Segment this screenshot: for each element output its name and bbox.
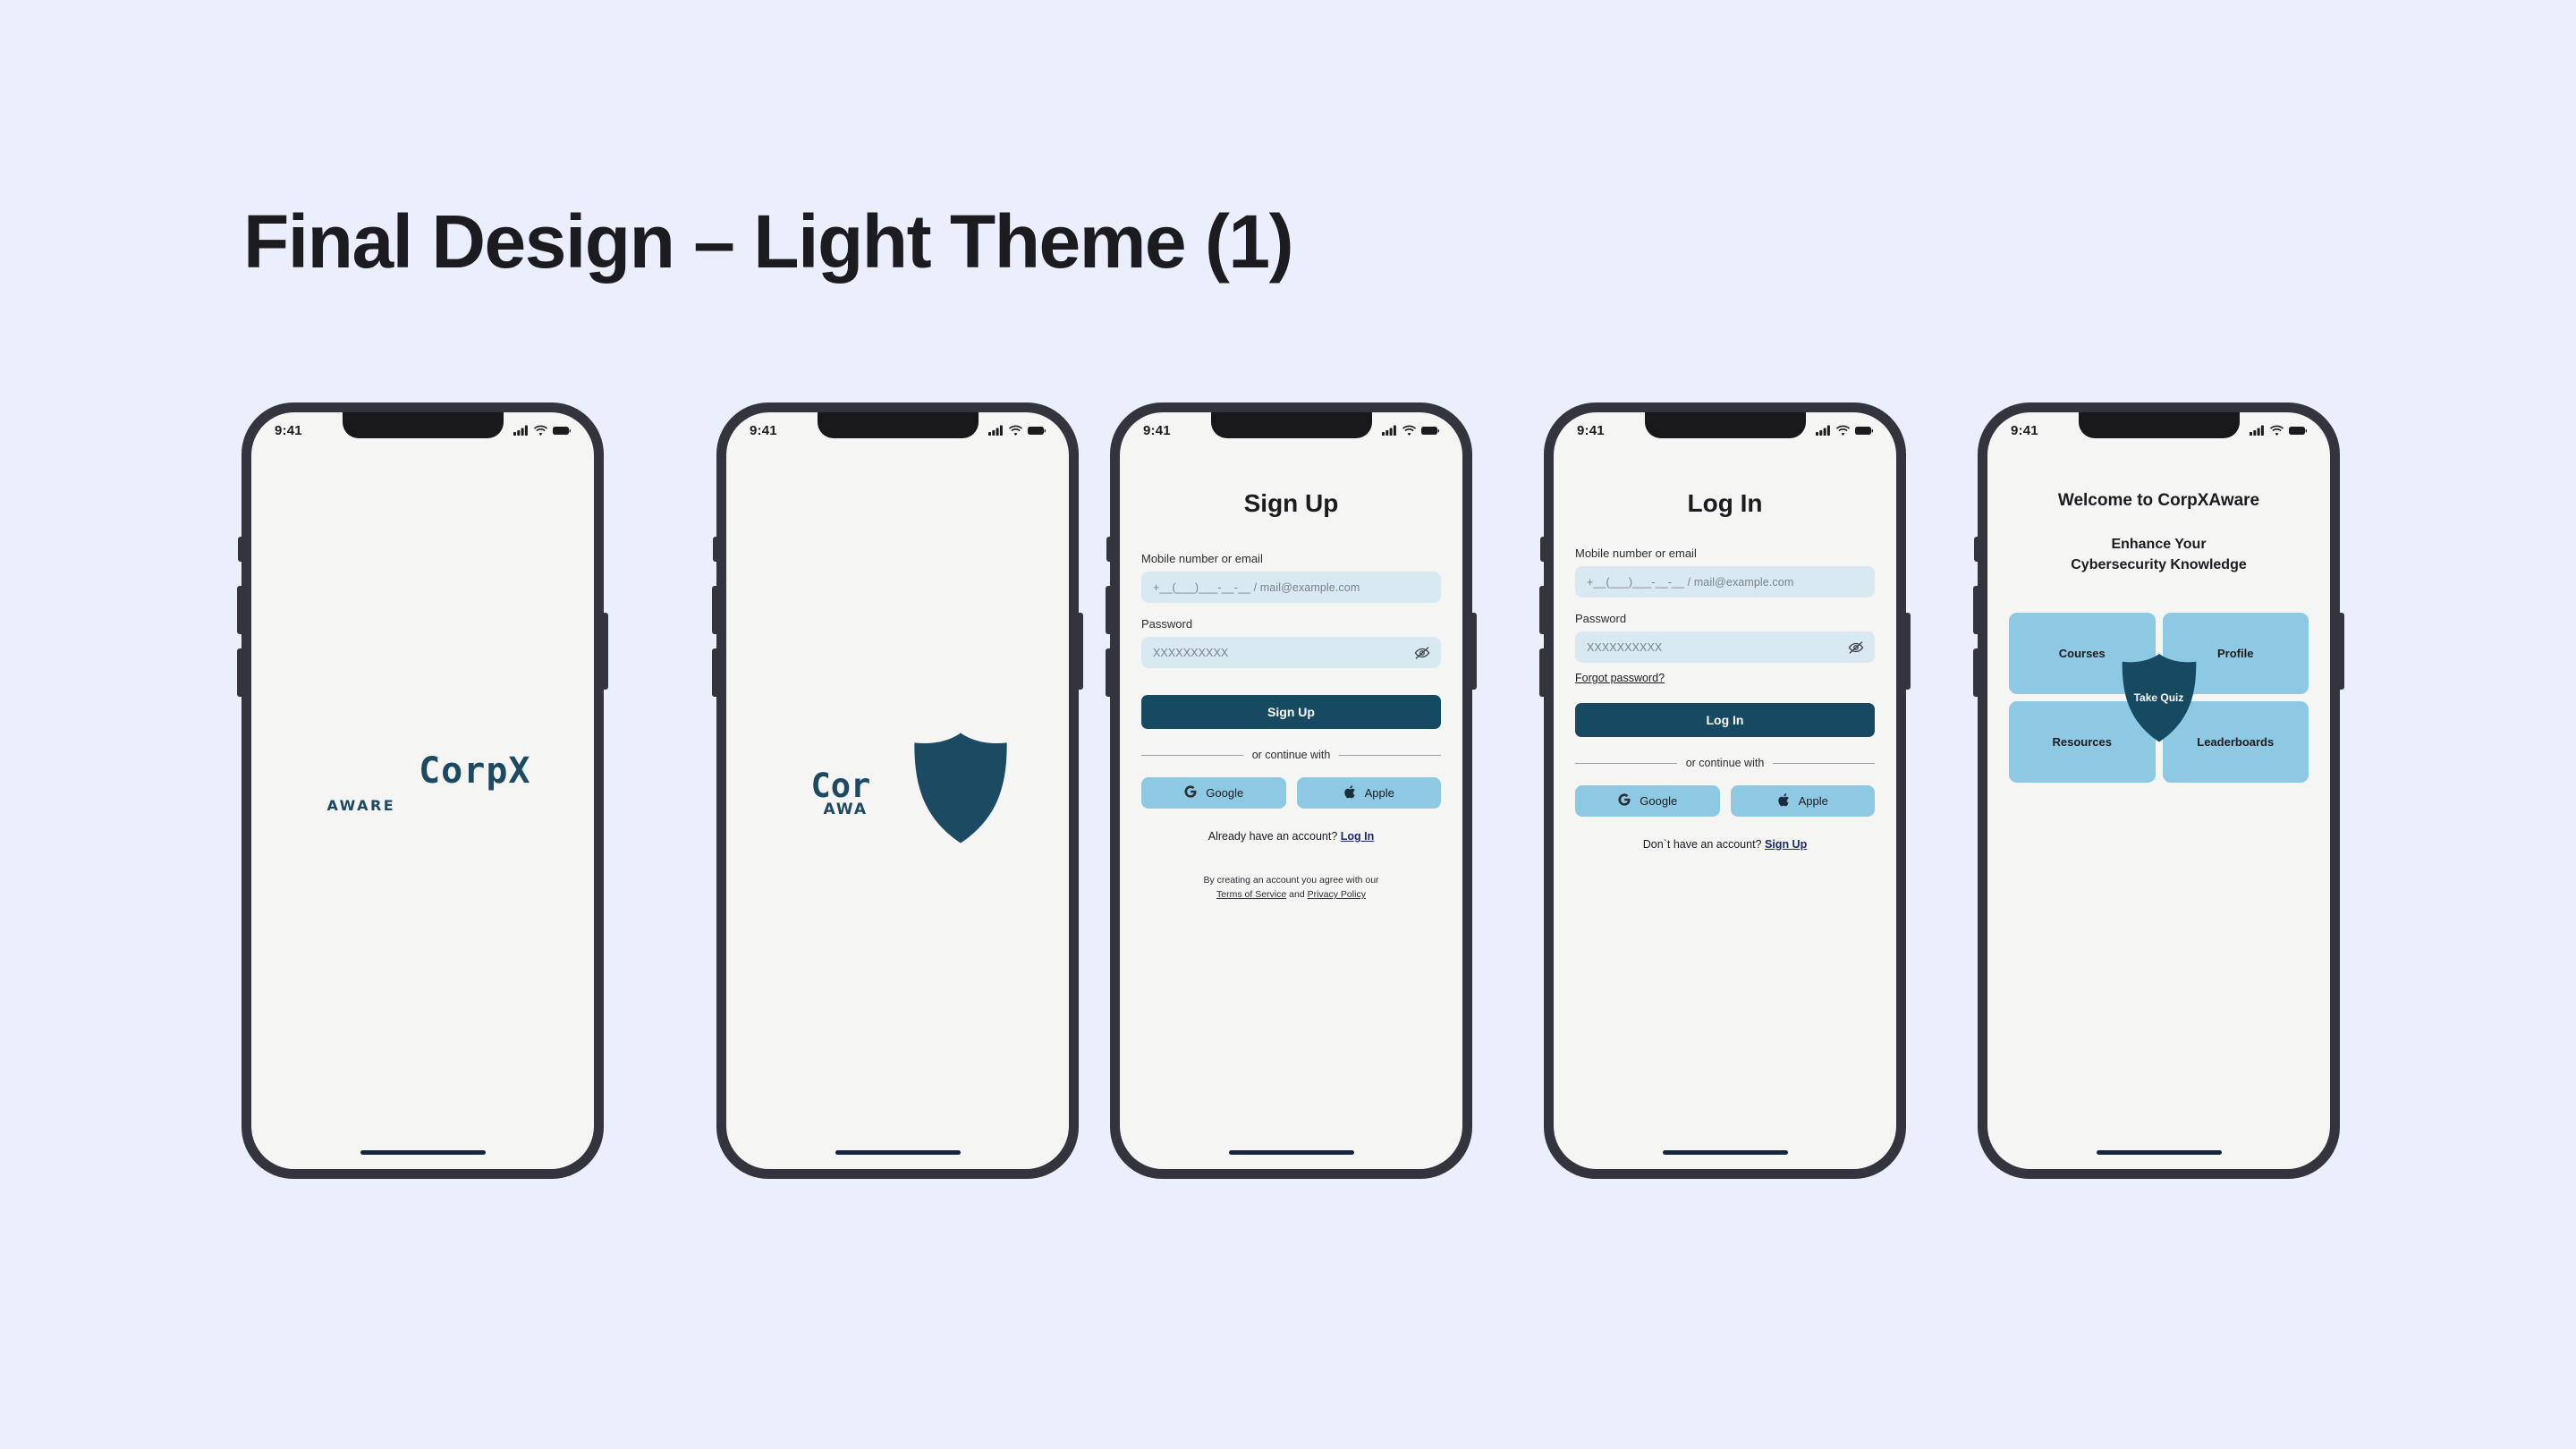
volume-up-button[interactable] [1539, 586, 1545, 634]
terms-of-service-link[interactable]: Terms of Service [1216, 889, 1286, 900]
switch-prompt: Already have an account? [1208, 830, 1338, 843]
identifier-value: +__(___)___-__-__ / mail@example.com [1587, 576, 1793, 589]
phone-home: 9:41 Welcome to CorpXAware [1978, 402, 2340, 1179]
phone-mockup-row: 9:41 CorpX [0, 402, 2576, 1190]
screen-splash-shield: 9:41 [726, 412, 1069, 1169]
google-label: Google [1206, 786, 1243, 800]
wifi-icon [1402, 425, 1416, 436]
divider-text: or continue with [1252, 749, 1331, 761]
divider-line-left [1575, 763, 1677, 764]
mute-switch[interactable] [238, 537, 242, 562]
power-button[interactable] [1078, 613, 1083, 690]
mute-switch[interactable] [713, 537, 717, 562]
apple-icon [1343, 784, 1357, 802]
sign-up-button-wrap: Sign Up [1141, 695, 1441, 729]
battery-icon [553, 426, 571, 436]
forgot-password-link[interactable]: Forgot password? [1575, 672, 1665, 684]
apple-icon [1777, 792, 1791, 810]
tile-profile-label: Profile [2217, 647, 2253, 660]
home-indicator[interactable] [1663, 1150, 1788, 1155]
social-divider: or continue with [1575, 757, 1875, 769]
shield-icon [911, 733, 1010, 843]
password-label: Password [1575, 612, 1875, 625]
field-group-password: Password XXXXXXXXXX [1575, 612, 1875, 663]
screen-log-in: 9:41 Log In [1554, 412, 1896, 1169]
splash-logo-container: CorpX AWARE [251, 412, 594, 1169]
social-buttons-row: Google Apple [1575, 785, 1875, 817]
field-group-identifier: Mobile number or email +__(___)___-__-__… [1575, 547, 1875, 597]
sign-up-link[interactable]: Sign Up [1765, 838, 1807, 851]
legal-links-row: Terms of Service and Privacy Policy [1141, 887, 1441, 902]
google-label: Google [1640, 794, 1677, 808]
log-in-link[interactable]: Log In [1341, 830, 1375, 843]
identifier-value: +__(___)___-__-__ / mail@example.com [1153, 581, 1360, 594]
privacy-policy-link[interactable]: Privacy Policy [1308, 889, 1366, 900]
volume-down-button[interactable] [712, 648, 717, 697]
battery-icon [2289, 426, 2307, 436]
subtitle-line-2: Cybersecurity Knowledge [2009, 555, 2309, 575]
home-indicator[interactable] [835, 1150, 961, 1155]
battery-icon [1855, 426, 1873, 436]
password-input[interactable]: XXXXXXXXXX [1575, 631, 1875, 663]
status-icons [1382, 425, 1439, 436]
mute-switch[interactable] [1974, 537, 1979, 562]
google-log-in-button[interactable]: Google [1575, 785, 1720, 817]
legal-prefix: By creating an account you agree with ou… [1141, 873, 1441, 887]
legal-and: and [1289, 889, 1305, 900]
divider-line-right [1339, 755, 1441, 756]
status-icons [2250, 425, 2307, 436]
status-time: 9:41 [1143, 423, 1171, 438]
google-icon [1183, 784, 1198, 801]
phone-splash-logo: 9:41 CorpX [241, 402, 604, 1179]
volume-down-button[interactable] [1973, 648, 1979, 697]
google-sign-up-button[interactable]: Google [1141, 777, 1286, 809]
status-bar: 9:41 [726, 412, 1069, 448]
home-indicator[interactable] [1229, 1150, 1354, 1155]
status-bar: 9:41 [1120, 412, 1462, 448]
home-indicator[interactable] [2097, 1150, 2222, 1155]
page-heading: Log In [1575, 489, 1875, 518]
volume-down-button[interactable] [1539, 648, 1545, 697]
log-in-button-wrap: Log In [1575, 703, 1875, 737]
mute-switch[interactable] [1106, 537, 1111, 562]
log-in-button[interactable]: Log In [1575, 703, 1875, 737]
volume-up-button[interactable] [712, 586, 717, 634]
corpx-aware-logo: CorpX AWARE [302, 741, 544, 840]
divider-line-right [1773, 763, 1875, 764]
take-quiz-button[interactable]: Take Quiz [2120, 654, 2199, 741]
password-label: Password [1141, 617, 1441, 631]
legal-disclaimer: By creating an account you agree with ou… [1141, 873, 1441, 902]
wifi-icon [2270, 425, 2284, 436]
mute-switch[interactable] [1540, 537, 1545, 562]
status-time: 9:41 [1577, 423, 1605, 438]
apple-label: Apple [1365, 786, 1394, 800]
take-quiz-label: Take Quiz [2134, 691, 2184, 704]
switch-to-signup-line: Don`t have an account? Sign Up [1575, 838, 1875, 851]
divider-text: or continue with [1686, 757, 1765, 769]
power-button[interactable] [1471, 613, 1477, 690]
social-buttons-row: Google Apple [1141, 777, 1441, 809]
status-bar: 9:41 [1554, 412, 1896, 448]
volume-up-button[interactable] [1106, 586, 1111, 634]
screen-sign-up: 9:41 Sign Up [1120, 412, 1462, 1169]
power-button[interactable] [2339, 613, 2344, 690]
page-heading: Sign Up [1141, 489, 1441, 518]
welcome-subtitle: Enhance Your Cybersecurity Knowledge [2009, 534, 2309, 575]
logo-corpx-text: CorpX [419, 750, 530, 792]
logo-corpx-text: CorpX [811, 767, 911, 805]
page-title: Final Design – Light Theme (1) [243, 199, 1292, 285]
status-time: 9:41 [750, 423, 777, 438]
social-divider: or continue with [1141, 749, 1441, 761]
logo-aware-text: AWARE [327, 797, 396, 814]
tile-leaderboards-label: Leaderboards [2197, 735, 2274, 749]
cellular-signal-icon [1382, 425, 1397, 436]
home-indicator[interactable] [360, 1150, 486, 1155]
battery-icon [1421, 426, 1439, 436]
status-time: 9:41 [2011, 423, 2038, 438]
status-bar: 9:41 [1987, 412, 2330, 448]
cellular-signal-icon [2250, 425, 2265, 436]
phone-sign-up: 9:41 Sign Up [1110, 402, 1472, 1179]
screen-splash-logo: 9:41 CorpX [251, 412, 594, 1169]
welcome-heading: Welcome to CorpXAware [2009, 491, 2309, 511]
cellular-signal-icon [1816, 425, 1831, 436]
cellular-signal-icon [988, 425, 1004, 436]
log-in-form: Log In Mobile number or email +__(___)__… [1554, 448, 1896, 1169]
cellular-signal-icon [513, 425, 529, 436]
apple-label: Apple [1799, 794, 1828, 808]
field-group-identifier: Mobile number or email +__(___)___-__-__… [1141, 552, 1441, 603]
apple-log-in-button[interactable]: Apple [1731, 785, 1876, 817]
design-board: Final Design – Light Theme (1) 9:41 [0, 0, 2576, 1449]
status-bar: 9:41 [251, 412, 594, 448]
home-tile-grid: Courses Profile Resources Leaderboards [2009, 613, 2309, 783]
identifier-input[interactable]: +__(___)___-__-__ / mail@example.com [1575, 566, 1875, 597]
password-input[interactable]: XXXXXXXXXX [1141, 637, 1441, 668]
home-content: Welcome to CorpXAware Enhance Your Cyber… [1987, 448, 2330, 1169]
subtitle-line-1: Enhance Your [2009, 534, 2309, 555]
volume-up-button[interactable] [1973, 586, 1979, 634]
power-button[interactable] [1905, 613, 1911, 690]
wifi-icon [1836, 425, 1850, 436]
switch-to-login-line: Already have an account? Log In [1141, 830, 1441, 843]
volume-down-button[interactable] [237, 648, 242, 697]
corpx-aware-shield-logo: CorpX AWARE [786, 733, 1010, 849]
splash-shield-container: CorpX AWARE [726, 412, 1069, 1169]
tile-courses-label: Courses [2059, 647, 2106, 660]
divider-line-left [1141, 755, 1243, 756]
wifi-icon [534, 425, 547, 436]
logo-aware-text: AWARE [824, 801, 894, 818]
wifi-icon [1009, 425, 1022, 436]
screen-home: 9:41 Welcome to CorpXAware [1987, 412, 2330, 1169]
google-icon [1617, 792, 1631, 809]
tile-resources-label: Resources [2053, 735, 2112, 749]
sign-up-button[interactable]: Sign Up [1141, 695, 1441, 729]
status-icons [988, 425, 1046, 436]
identifier-label: Mobile number or email [1141, 552, 1441, 565]
status-icons [1816, 425, 1873, 436]
status-icons [513, 425, 571, 436]
volume-down-button[interactable] [1106, 648, 1111, 697]
status-time: 9:41 [275, 423, 302, 438]
eye-off-icon[interactable] [1848, 640, 1864, 656]
field-group-password: Password XXXXXXXXXX [1141, 617, 1441, 668]
battery-icon [1028, 426, 1046, 436]
identifier-input[interactable]: +__(___)___-__-__ / mail@example.com [1141, 572, 1441, 603]
password-value: XXXXXXXXXX [1153, 647, 1228, 659]
identifier-label: Mobile number or email [1575, 547, 1875, 560]
switch-prompt: Don`t have an account? [1643, 838, 1762, 851]
power-button[interactable] [603, 613, 608, 690]
sign-up-form: Sign Up Mobile number or email +__(___)_… [1120, 448, 1462, 1169]
eye-off-icon[interactable] [1414, 645, 1430, 661]
volume-up-button[interactable] [237, 586, 242, 634]
password-value: XXXXXXXXXX [1587, 641, 1662, 654]
phone-splash-shield: 9:41 [716, 402, 1079, 1179]
phone-log-in: 9:41 Log In [1544, 402, 1906, 1179]
apple-sign-up-button[interactable]: Apple [1297, 777, 1442, 809]
